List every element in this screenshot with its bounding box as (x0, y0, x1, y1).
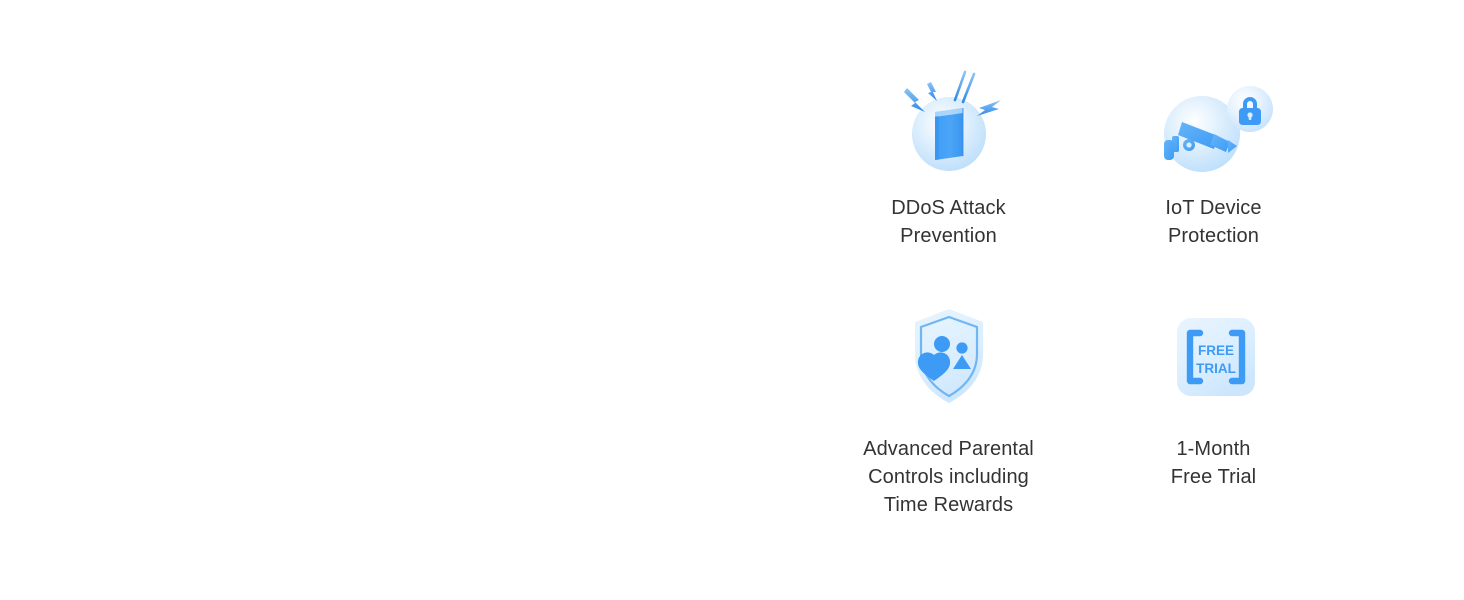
free-trial-line-2: TRIAL (1196, 361, 1236, 376)
feature-card-one-month-free-trial[interactable]: FREE TRIAL 1-Month Free Trial (1111, 297, 1316, 542)
free-trial-line-1: FREE (1197, 343, 1233, 358)
feature-grid: DDoS Attack Prevention (846, 52, 1316, 552)
iot-security-camera-lock-icon (1144, 52, 1284, 182)
feature-label: IoT Device Protection (1165, 194, 1261, 250)
feature-card-iot-device-protection[interactable]: IoT Device Protection (1111, 52, 1316, 297)
ddos-shield-wall-icon (879, 52, 1019, 182)
feature-label: DDoS Attack Prevention (891, 194, 1005, 250)
feature-card-ddos-attack-prevention[interactable]: DDoS Attack Prevention (846, 52, 1051, 297)
free-trial-badge-icon: FREE TRIAL (1144, 297, 1284, 417)
feature-label: 1-Month Free Trial (1171, 435, 1256, 491)
feature-label: Advanced Parental Controls including Tim… (863, 435, 1034, 519)
parental-controls-shield-icon (879, 297, 1019, 417)
feature-card-advanced-parental-controls[interactable]: Advanced Parental Controls including Tim… (846, 297, 1051, 542)
